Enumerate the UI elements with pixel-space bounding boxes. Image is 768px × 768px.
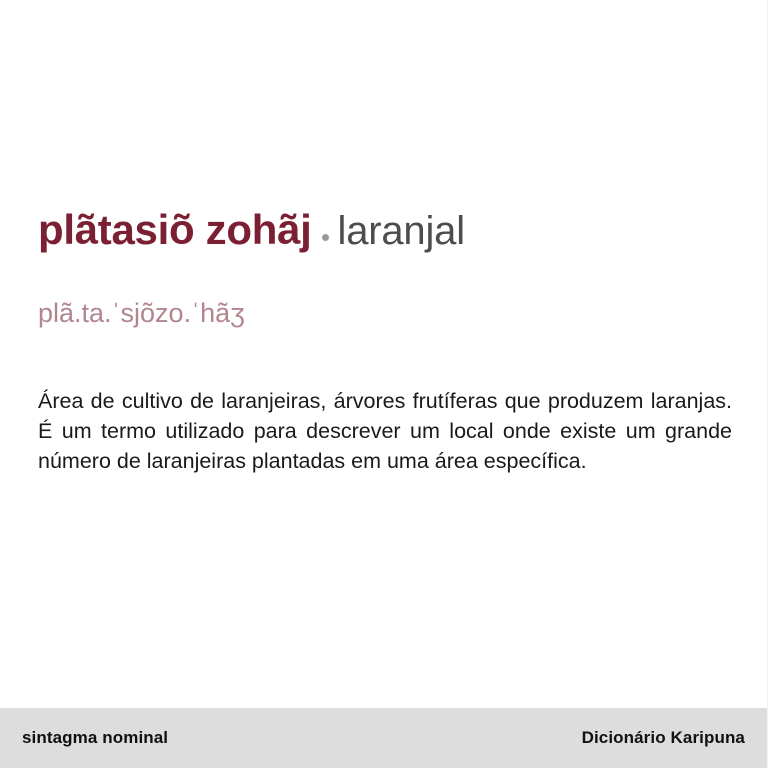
entry-headline: plãtasiõ zohãjlaranjal: [38, 206, 729, 254]
pronunciation-ipa: plã.ta.ˈsjõzo.ˈhãʒ: [38, 298, 245, 329]
definition-text: Área de cultivo de laranjeiras, árvores …: [38, 386, 732, 476]
source-label: Dicionário Karipuna: [582, 728, 745, 748]
separator-dot-icon: [322, 234, 329, 241]
translation: laranjal: [338, 209, 465, 253]
headword: plãtasiõ zohãj: [38, 206, 312, 253]
footer-bar: sintagma nominal Dicionário Karipuna: [0, 708, 767, 768]
dictionary-entry-page: plãtasiõ zohãjlaranjal plã.ta.ˈsjõzo.ˈhã…: [0, 0, 768, 768]
part-of-speech-label: sintagma nominal: [22, 728, 168, 748]
